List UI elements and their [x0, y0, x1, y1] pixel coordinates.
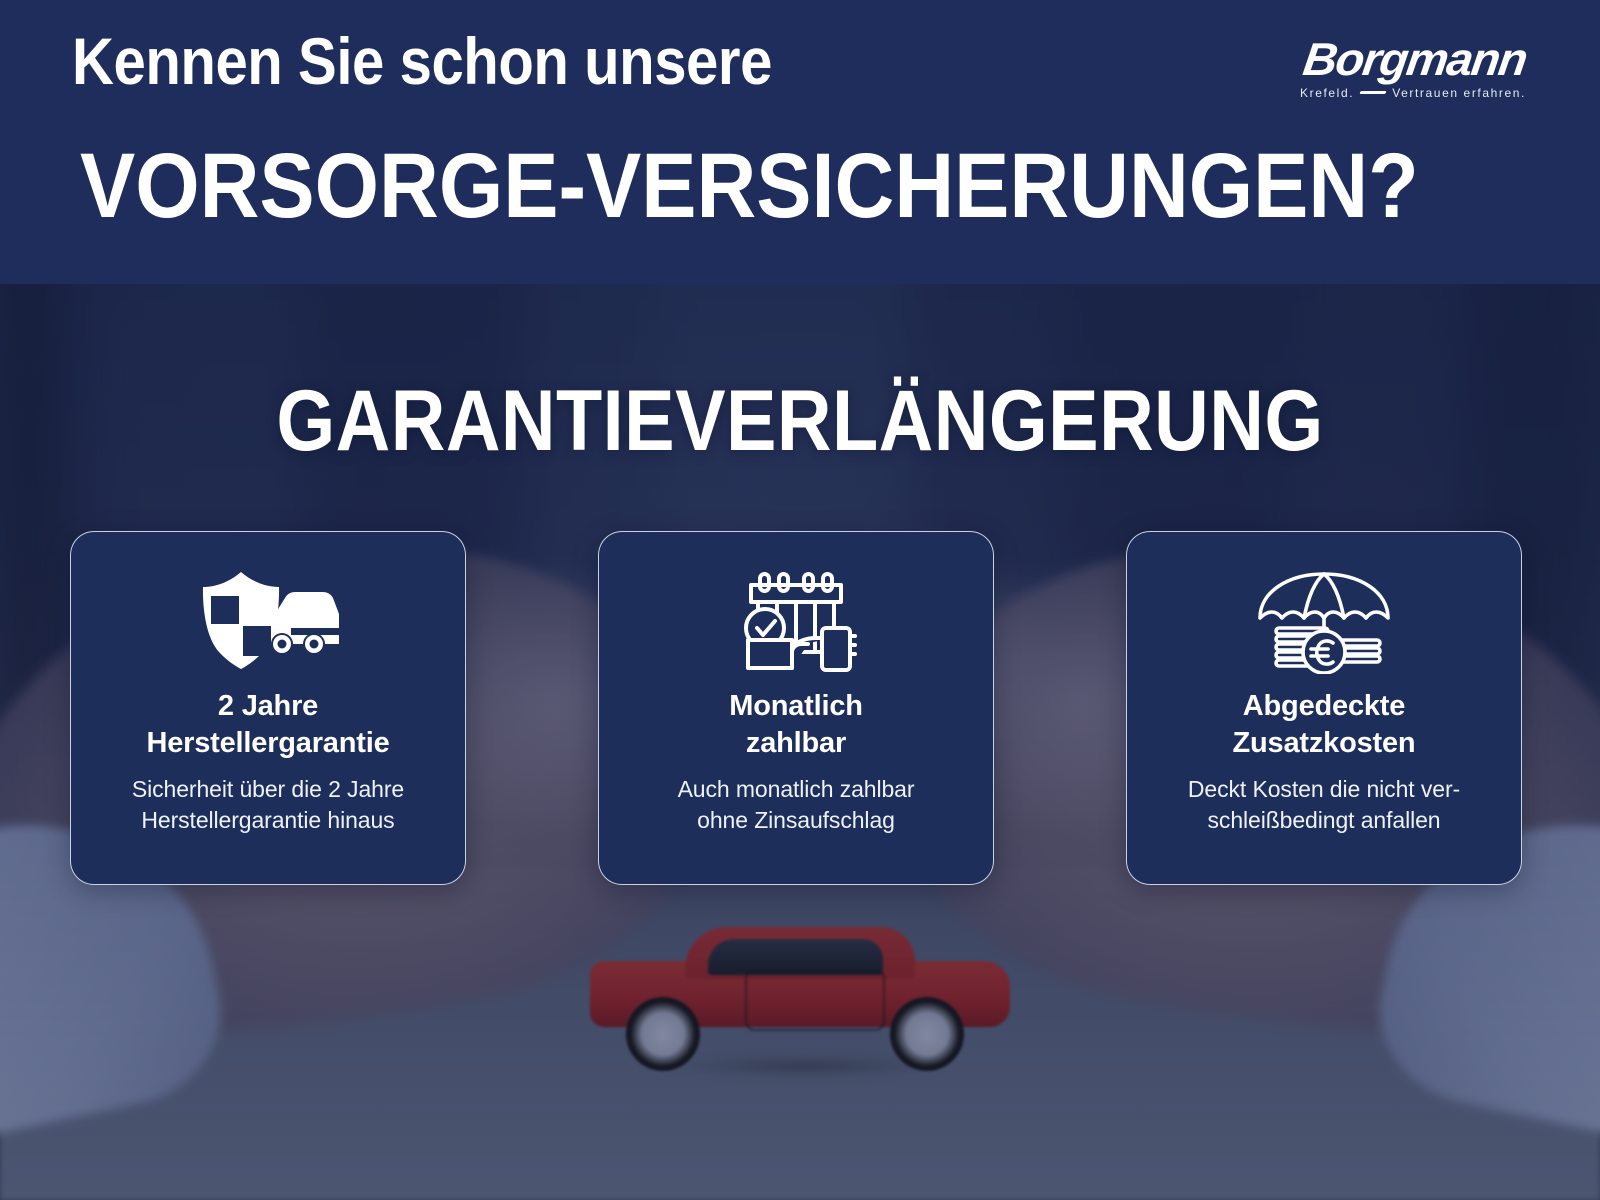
- logo-separator-bar: [1360, 91, 1387, 94]
- calendar-check-cash-icon: [734, 566, 858, 678]
- feature-card-list: 2 Jahre Herstellergarantie Sicherheit üb…: [70, 531, 1522, 885]
- feature-card-monthly-payment[interactable]: Monatlich zahlbar Auch monatlich zahlbar…: [598, 531, 994, 885]
- logo-tagline: Vertrauen erfahren.: [1392, 86, 1526, 100]
- feature-card-title: Abgedeckte Zusatzkosten: [1233, 688, 1416, 762]
- shield-car-icon: [197, 566, 339, 678]
- borgmann-logo[interactable]: Borgmann Krefeld. Vertrauen erfahren.: [1300, 38, 1526, 112]
- banner-canvas: Kennen Sie schon unsere VORSORGE-VERSICH…: [0, 0, 1600, 1200]
- feature-card-description: Sicherheit über die 2 Jahre Herstellerga…: [132, 774, 404, 835]
- logo-subline: Krefeld. Vertrauen erfahren.: [1300, 86, 1526, 100]
- logo-location: Krefeld.: [1300, 86, 1354, 100]
- header-line-2: VORSORGE-VERSICHERUNGEN?: [80, 140, 1419, 232]
- feature-card-warranty[interactable]: 2 Jahre Herstellergarantie Sicherheit üb…: [70, 531, 466, 885]
- logo-wordmark: Borgmann: [1292, 38, 1529, 82]
- feature-card-description: Deckt Kosten die nicht ver- schleißbedin…: [1188, 774, 1460, 835]
- umbrella-euro-coins-icon: [1256, 566, 1392, 678]
- feature-card-description: Auch monatlich zahlbar ohne Zinsaufschla…: [678, 774, 915, 835]
- feature-card-title: 2 Jahre Herstellergarantie: [146, 688, 389, 762]
- feature-card-title: Monatlich zahlbar: [729, 688, 863, 762]
- feature-card-extra-costs[interactable]: Abgedeckte Zusatzkosten Deckt Kosten die…: [1126, 531, 1522, 885]
- header-band: Kennen Sie schon unsere VORSORGE-VERSICH…: [0, 0, 1600, 284]
- page-title: GARANTIEVERLÄNGERUNG: [96, 378, 1504, 464]
- header-line-1: Kennen Sie schon unsere: [72, 28, 772, 94]
